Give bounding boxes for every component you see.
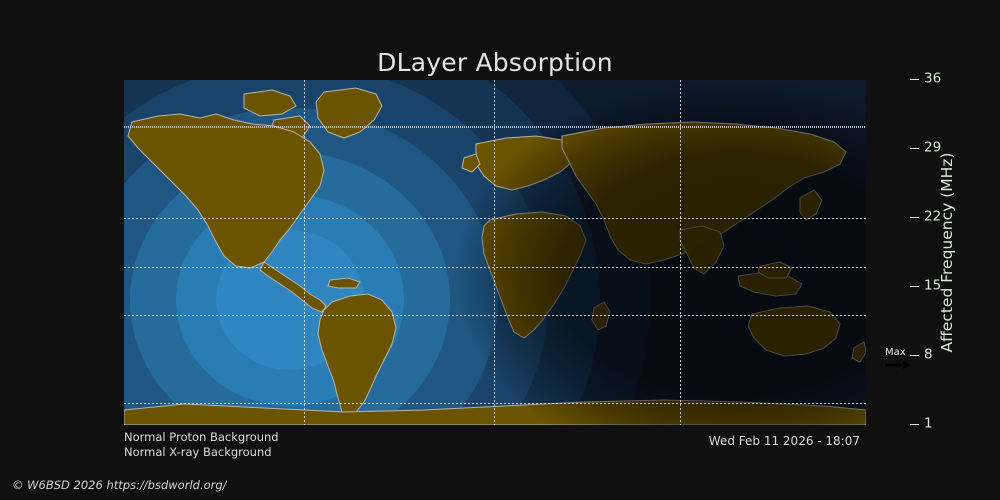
colorbar-tick-mark-22 — [910, 217, 919, 218]
colorbar-tick-label-1: 1 — [924, 417, 933, 431]
xray-status-note: Normal X-ray Background — [124, 445, 272, 459]
landmass-arctic-islands — [244, 90, 296, 116]
colorbar[interactable]: Max — [884, 78, 906, 425]
landmass-borneo — [758, 262, 792, 278]
page-title: DLayer Absorption — [0, 48, 990, 77]
landmass-british-isles — [462, 154, 480, 172]
landmass-caribbean — [328, 278, 360, 288]
timestamp-label: Wed Feb 11 2026 - 18:07 — [709, 434, 860, 448]
colorbar-tick-mark-36 — [910, 79, 919, 80]
colorbar-gradient — [884, 78, 906, 425]
landmass-australia — [748, 306, 840, 356]
colorbar-tick-label-8: 8 — [924, 348, 933, 362]
colorbar-axis-label: Affected Frequency (MHz) — [938, 80, 960, 425]
landmass-north-america — [128, 114, 324, 268]
world-map-panel[interactable] — [124, 80, 866, 425]
continents-layer — [124, 80, 866, 425]
landmass-madagascar — [592, 302, 610, 330]
landmass-africa — [482, 212, 586, 338]
landmass-india — [680, 226, 724, 274]
landmass-new-zealand — [852, 342, 866, 362]
proton-status-note: Normal Proton Background — [124, 430, 279, 444]
landmass-greenland — [316, 88, 382, 138]
colorbar-tick-mark-8 — [910, 355, 919, 356]
colorbar-tick-mark-15 — [910, 286, 919, 287]
copyright-label: © W6BSD 2026 https://bsdworld.org/ — [12, 478, 227, 492]
landmass-europe — [476, 136, 576, 190]
landmass-central-america — [260, 262, 326, 312]
coastlines-svg — [124, 80, 866, 425]
landmass-antarctica — [124, 400, 866, 425]
landmass-japan — [800, 190, 822, 220]
colorbar-tick-mark-1 — [910, 424, 919, 425]
landmass-south-america — [318, 294, 396, 418]
dlayer-absorption-figure: DLayer Absorption — [0, 0, 1000, 500]
colorbar-tick-mark-29 — [910, 148, 919, 149]
